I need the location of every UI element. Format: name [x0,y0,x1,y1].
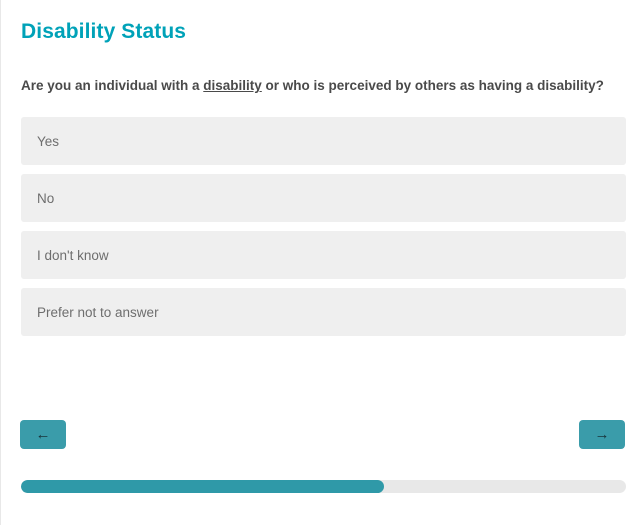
option-yes[interactable]: Yes [21,117,626,165]
option-prefer-not-to-answer[interactable]: Prefer not to answer [21,288,626,336]
disability-term-link[interactable]: disability [203,78,262,93]
arrow-right-icon: → [595,427,610,442]
back-button[interactable]: ← [20,420,66,449]
option-label: No [37,191,54,206]
option-label: I don't know [37,248,109,263]
progress-bar [21,480,626,493]
option-no[interactable]: No [21,174,626,222]
option-i-dont-know[interactable]: I don't know [21,231,626,279]
question-text: Are you an individual with a disability … [21,78,604,94]
progress-bar-fill [21,480,384,493]
page-title: Disability Status [21,20,186,44]
option-label: Yes [37,134,59,149]
question-suffix: or who is perceived by others as having … [262,78,604,93]
survey-page: Disability Status Are you an individual … [0,0,643,525]
arrow-left-icon: ← [36,427,51,442]
option-label: Prefer not to answer [37,305,159,320]
question-prefix: Are you an individual with a [21,78,203,93]
next-button[interactable]: → [579,420,625,449]
answer-options-list: Yes No I don't know Prefer not to answer [21,117,626,345]
